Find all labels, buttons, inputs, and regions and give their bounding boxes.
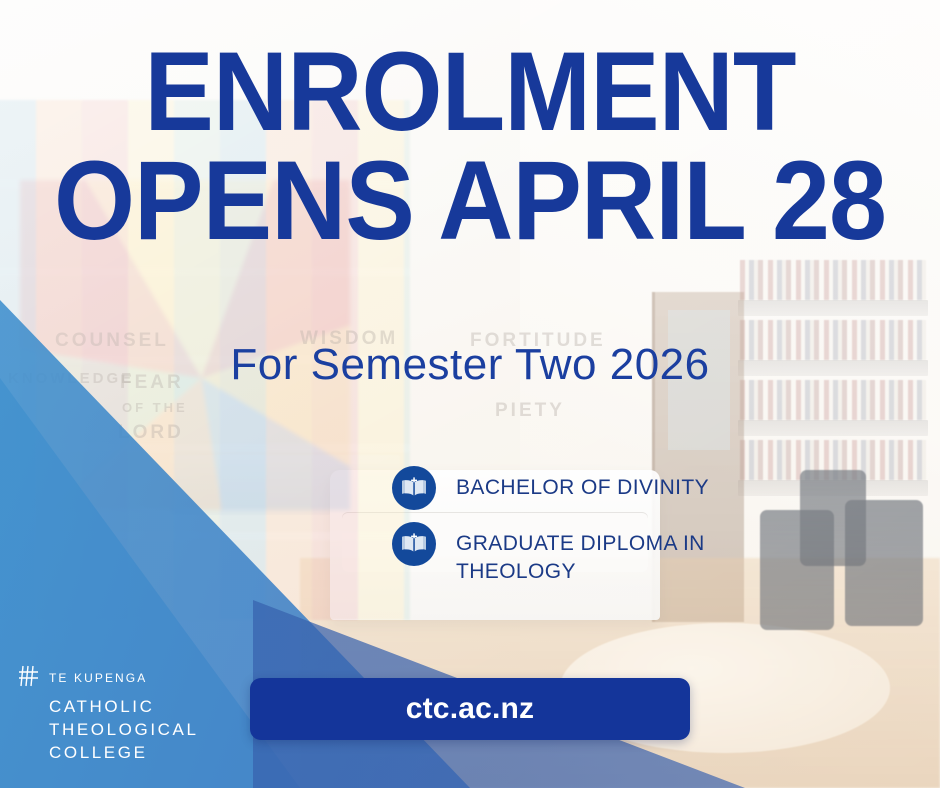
open-book-cross-icon (392, 522, 436, 566)
logo-line-college: COLLEGE (49, 742, 199, 765)
headline-line-2: OPENS APRIL 28 (33, 151, 907, 252)
te-kupenga-net-icon (18, 665, 40, 692)
website-url-button[interactable]: ctc.ac.nz (250, 678, 690, 740)
program-label: GRADUATE DIPLOMA IN THEOLOGY (456, 522, 756, 587)
logo-kupenga-text: TE KUPENGA (49, 671, 147, 687)
headline-line-1: ENROLMENT (33, 42, 907, 143)
te-kupenga-logo: TE KUPENGA CATHOLIC THEOLOGICAL COLLEGE (18, 665, 199, 764)
logo-line-catholic: CATHOLIC (49, 696, 199, 719)
program-item: BACHELOR OF DIVINITY (392, 466, 822, 510)
subtitle: For Semester Two 2026 (0, 340, 940, 390)
enrolment-poster: COUNSEL WISDOM FORTITUDE FEAR OF THE LOR… (0, 0, 940, 788)
program-item: GRADUATE DIPLOMA IN THEOLOGY (392, 522, 822, 587)
program-label: BACHELOR OF DIVINITY (456, 466, 709, 502)
program-list: BACHELOR OF DIVINITY GRADUATE DIPLOMA IN… (392, 466, 822, 599)
open-book-cross-icon (392, 466, 436, 510)
headline: ENROLMENT OPENS APRIL 28 (0, 42, 940, 252)
website-url-label: ctc.ac.nz (406, 692, 535, 726)
logo-line-theological: THEOLOGICAL (49, 719, 199, 742)
